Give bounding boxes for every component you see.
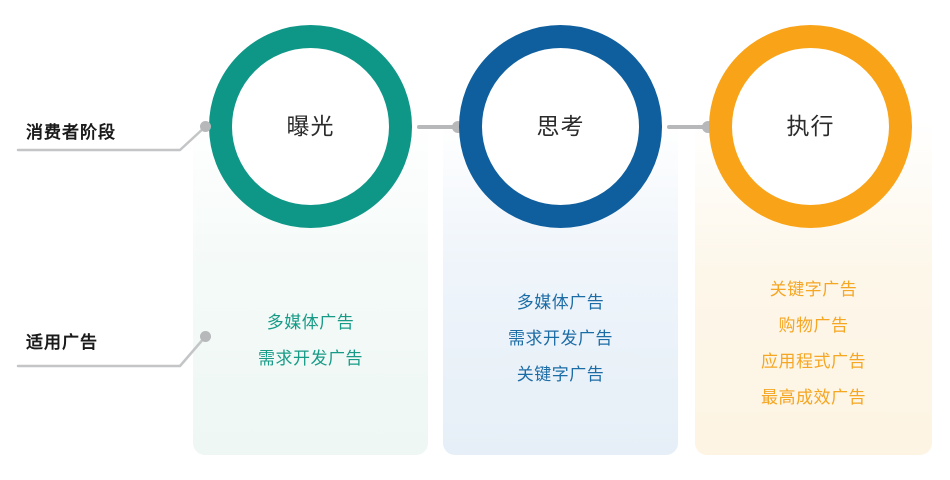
- ad-item: 关键字广告: [443, 357, 678, 393]
- ad-list-consideration: 多媒体广告 需求开发广告 关键字广告: [443, 285, 678, 393]
- ad-list-action: 关键字广告 购物广告 应用程式广告 最高成效广告: [695, 272, 932, 416]
- ad-item: 多媒体广告: [443, 285, 678, 321]
- stage-ring-exposure[interactable]: 曝光: [209, 25, 412, 228]
- ad-item: 购物广告: [695, 308, 932, 344]
- ad-item: 需求开发广告: [193, 341, 428, 377]
- ad-item: 应用程式广告: [695, 344, 932, 380]
- ad-item: 关键字广告: [695, 272, 932, 308]
- leader-dot-applicable-ads: [200, 331, 211, 342]
- ad-item: 需求开发广告: [443, 321, 678, 357]
- funnel-diagram: 消费者阶段 适用广告 曝光 思考 执行 多媒体广告 需求开发广告 多媒体广告 需…: [0, 0, 950, 480]
- stage-ring-consideration[interactable]: 思考: [459, 25, 662, 228]
- row-label-consumer-stage: 消费者阶段: [26, 118, 116, 143]
- ad-item: 最高成效广告: [695, 380, 932, 416]
- leader-dot-consumer-stage: [200, 121, 211, 132]
- ad-list-exposure: 多媒体广告 需求开发广告: [193, 305, 428, 377]
- stage-ring-action[interactable]: 执行: [709, 25, 912, 228]
- stage-ring-label-consideration: 思考: [537, 115, 585, 138]
- stage-ring-label-exposure: 曝光: [287, 115, 335, 138]
- ad-item: 多媒体广告: [193, 305, 428, 341]
- stage-ring-label-action: 执行: [787, 115, 835, 138]
- row-label-applicable-ads: 适用广告: [26, 328, 98, 353]
